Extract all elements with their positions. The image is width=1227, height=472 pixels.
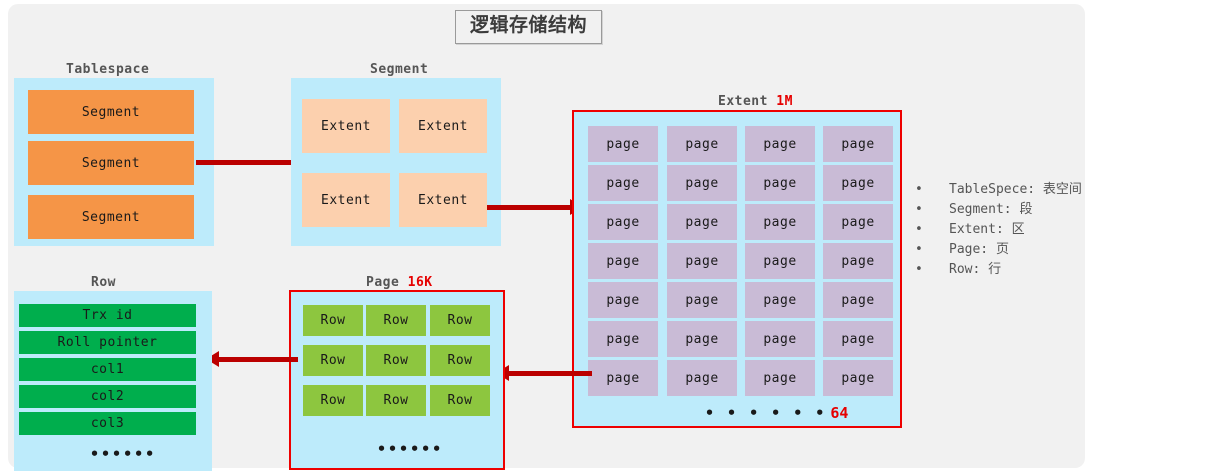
legend-item-label: Segment: 段 xyxy=(949,200,1032,220)
page-row-cell[interactable]: Row xyxy=(366,305,426,336)
legend-bullet-icon: • xyxy=(915,260,949,280)
extent-page-cell[interactable]: page xyxy=(823,126,893,162)
row-field-cell[interactable]: col1 xyxy=(19,358,196,381)
page-row-cell[interactable]: Row xyxy=(303,305,363,336)
extent-caption: Extent 1M xyxy=(718,94,793,109)
arrow-extent-to-page xyxy=(508,371,592,376)
page-row-cell[interactable]: Row xyxy=(430,345,490,376)
extent-page-cell[interactable]: page xyxy=(745,165,815,201)
legend-item: • Page: 页 xyxy=(915,240,1082,260)
page-row-cell[interactable]: Row xyxy=(303,345,363,376)
extent-page-cell[interactable]: page xyxy=(823,165,893,201)
extent-page-cell[interactable]: page xyxy=(823,204,893,240)
page-title: 逻辑存储结构 xyxy=(455,10,602,44)
extent-page-cell[interactable]: page xyxy=(745,360,815,396)
extent-page-cell[interactable]: page xyxy=(588,243,658,279)
legend-item-label: Extent: 区 xyxy=(949,220,1025,240)
arrow-page-to-row xyxy=(218,357,298,362)
tablespace-caption: Tablespace xyxy=(66,62,149,77)
extent-page-cell[interactable]: page xyxy=(823,321,893,357)
extent-overflow-indicator: • • • • • •64 xyxy=(705,404,848,422)
page-row-cell[interactable]: Row xyxy=(366,385,426,416)
legend-bullet-icon: • xyxy=(915,180,949,200)
legend-item: • Extent: 区 xyxy=(915,220,1082,240)
extent-page-cell[interactable]: page xyxy=(667,126,737,162)
row-field-cell[interactable]: Trx id xyxy=(19,304,196,327)
arrow-segment-to-extent xyxy=(487,205,573,210)
segment-caption: Segment xyxy=(370,62,428,77)
row-field-cell[interactable]: Roll pointer xyxy=(19,331,196,354)
extent-page-cell[interactable]: page xyxy=(588,360,658,396)
row-field-cell[interactable]: col3 xyxy=(19,412,196,435)
row-field-cell[interactable]: col2 xyxy=(19,385,196,408)
page-row-cell[interactable]: Row xyxy=(430,385,490,416)
row-caption: Row xyxy=(91,275,116,290)
segment-extent-cell[interactable]: Extent xyxy=(302,173,390,227)
extent-page-cell[interactable]: page xyxy=(588,282,658,318)
legend-item-label: Row: 行 xyxy=(949,260,1001,280)
legend-bullet-icon: • xyxy=(915,240,949,260)
extent-page-cell[interactable]: page xyxy=(667,321,737,357)
diagram-root: 逻辑存储结构 Tablespace Segment Segment Segmen… xyxy=(0,0,1227,472)
extent-page-cell[interactable]: page xyxy=(667,243,737,279)
legend-item: • TableSpece: 表空间 xyxy=(915,180,1082,200)
extent-page-cell[interactable]: page xyxy=(745,282,815,318)
extent-page-cell[interactable]: page xyxy=(588,204,658,240)
legend-item: • Row: 行 xyxy=(915,260,1082,280)
page-size-badge: 16K xyxy=(408,275,433,290)
legend-item-label: Page: 页 xyxy=(949,240,1009,260)
extent-page-cell[interactable]: page xyxy=(823,360,893,396)
tablespace-segment-cell[interactable]: Segment xyxy=(28,90,194,134)
extent-page-cell[interactable]: page xyxy=(667,360,737,396)
extent-page-cell[interactable]: page xyxy=(667,204,737,240)
extent-page-cell[interactable]: page xyxy=(588,126,658,162)
extent-page-cell[interactable]: page xyxy=(823,243,893,279)
tablespace-segment-cell[interactable]: Segment xyxy=(28,141,194,185)
extent-page-cell[interactable]: page xyxy=(588,321,658,357)
page-overflow-indicator: •••••• xyxy=(377,440,443,458)
page-row-cell[interactable]: Row xyxy=(366,345,426,376)
extent-overflow-count: 64 xyxy=(830,404,848,422)
extent-size-badge: 1M xyxy=(776,94,793,109)
page-group-caption: Page 16K xyxy=(366,275,433,290)
legend-item: • Segment: 段 xyxy=(915,200,1082,220)
tablespace-segment-cell[interactable]: Segment xyxy=(28,195,194,239)
extent-page-cell[interactable]: page xyxy=(745,204,815,240)
row-overflow-indicator: •••••• xyxy=(90,445,156,463)
legend-bullet-icon: • xyxy=(915,200,949,220)
extent-page-cell[interactable]: page xyxy=(823,282,893,318)
segment-extent-cell[interactable]: Extent xyxy=(302,99,390,153)
segment-extent-cell[interactable]: Extent xyxy=(399,173,487,227)
extent-page-cell[interactable]: page xyxy=(667,165,737,201)
page-row-cell[interactable]: Row xyxy=(430,305,490,336)
extent-page-cell[interactable]: page xyxy=(745,321,815,357)
legend-bullet-icon: • xyxy=(915,220,949,240)
segment-extent-cell[interactable]: Extent xyxy=(399,99,487,153)
extent-page-cell[interactable]: page xyxy=(588,165,658,201)
legend: • TableSpece: 表空间 • Segment: 段 • Extent:… xyxy=(915,180,1082,280)
extent-page-cell[interactable]: page xyxy=(745,243,815,279)
extent-page-cell[interactable]: page xyxy=(745,126,815,162)
legend-item-label: TableSpece: 表空间 xyxy=(949,180,1082,200)
arrow-tablespace-to-segment xyxy=(196,160,292,165)
extent-page-cell[interactable]: page xyxy=(667,282,737,318)
page-row-cell[interactable]: Row xyxy=(303,385,363,416)
